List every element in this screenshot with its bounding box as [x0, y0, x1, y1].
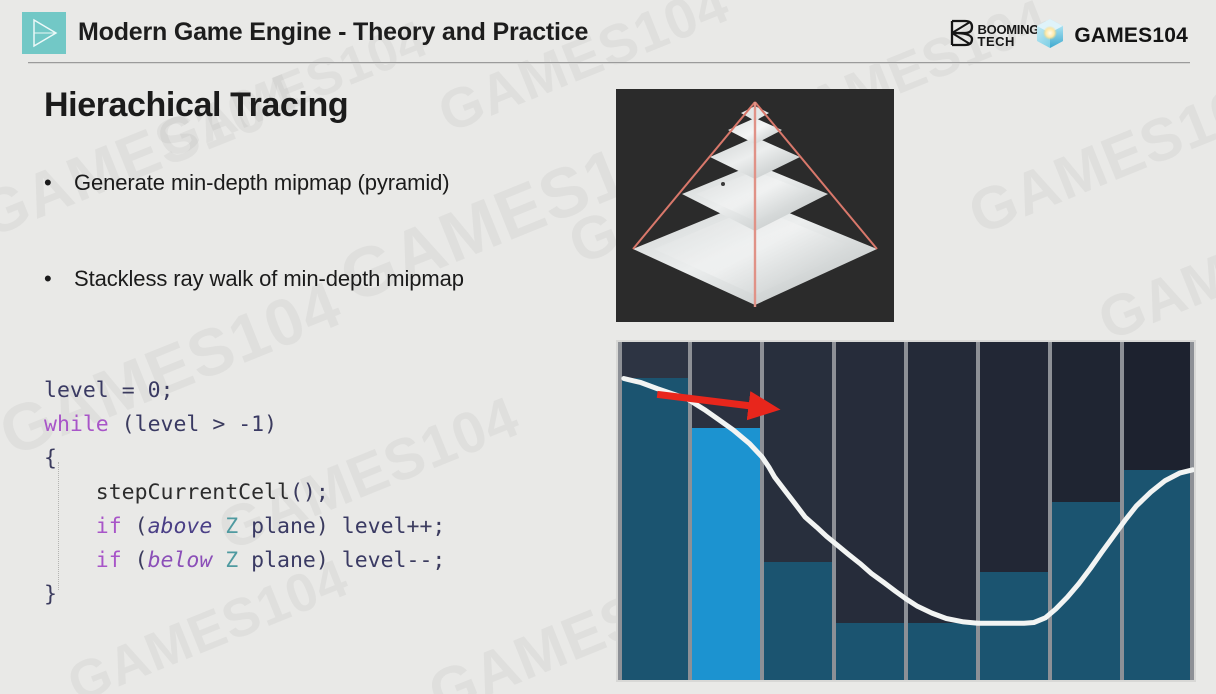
code-token: if [96, 514, 122, 539]
pyramid-diagram [616, 89, 894, 322]
bullet-text: Generate min-depth mipmap (pyramid) [74, 168, 450, 198]
bullet-item: • Stackless ray walk of min-depth mipmap [44, 264, 464, 294]
code-token: above [148, 514, 213, 539]
booming-tech-wordmark: BOOMING TECH [978, 24, 1039, 48]
ray-direction-arrow [618, 342, 1194, 680]
code-token: ( [122, 514, 148, 539]
code-token [225, 412, 238, 437]
code-token: Z [225, 514, 238, 539]
code-token: -1 [238, 412, 264, 437]
code-token: 0 [148, 378, 161, 403]
code-token: { [44, 446, 57, 471]
code-token [212, 514, 225, 539]
code-token [238, 514, 251, 539]
games104-cube-icon [1035, 18, 1065, 54]
code-token: = [122, 378, 135, 403]
games104-logo: GAMES104 [1035, 18, 1188, 54]
code-token [199, 412, 212, 437]
code-token: ( [109, 412, 135, 437]
bullet-marker-icon: • [44, 168, 74, 198]
page-title: Hierachical Tracing [44, 86, 348, 125]
code-token: while [44, 412, 109, 437]
booming-line2: TECH [978, 36, 1039, 48]
code-token: level [342, 548, 407, 573]
code-token: ( [122, 548, 148, 573]
code-token: ) [316, 514, 342, 539]
min-depth-mipmap-chart [616, 340, 1196, 682]
code-token: (); [290, 480, 329, 505]
code-token: Z [225, 548, 238, 573]
code-token [44, 514, 96, 539]
code-token [212, 548, 225, 573]
code-token: ) [264, 412, 277, 437]
code-token: ; [161, 378, 174, 403]
code-token: --; [407, 548, 446, 573]
pseudocode-block: level = 0; while (level > -1) { stepCurr… [44, 374, 445, 612]
games104-wordmark: GAMES104 [1074, 24, 1188, 48]
play-wireframe-icon [22, 12, 66, 54]
code-token: below [148, 548, 213, 573]
code-token: } [44, 582, 57, 607]
code-token: if [96, 548, 122, 573]
code-token [44, 480, 96, 505]
arrow-line [657, 394, 766, 408]
header-divider [28, 62, 1190, 64]
code-token [109, 378, 122, 403]
min-depth-mipmap-pyramid-figure [616, 89, 894, 322]
bullet-marker-icon: • [44, 264, 74, 294]
bullet-text: Stackless ray walk of min-depth mipmap [74, 264, 464, 294]
deck-title: Modern Game Engine - Theory and Practice [78, 18, 588, 47]
slide-header: Modern Game Engine - Theory and Practice… [0, 0, 1216, 64]
bullet-item: • Generate min-depth mipmap (pyramid) [44, 168, 450, 198]
code-token: level [135, 412, 200, 437]
watermark-text: GAMES104 [959, 61, 1216, 248]
code-token [238, 548, 251, 573]
code-token: ) [316, 548, 342, 573]
code-token: stepCurrentCell [96, 480, 290, 505]
code-token: plane [251, 514, 316, 539]
watermark-text: GAMES104 [1089, 173, 1216, 354]
code-token: plane [251, 548, 316, 573]
booming-tech-logo: BOOMING TECH [949, 19, 1039, 52]
booming-b-icon [949, 19, 975, 52]
code-token: level [342, 514, 407, 539]
code-token [44, 548, 96, 573]
code-token: > [212, 412, 225, 437]
code-token: ++; [407, 514, 446, 539]
code-token [135, 378, 148, 403]
code-token: level [44, 378, 109, 403]
